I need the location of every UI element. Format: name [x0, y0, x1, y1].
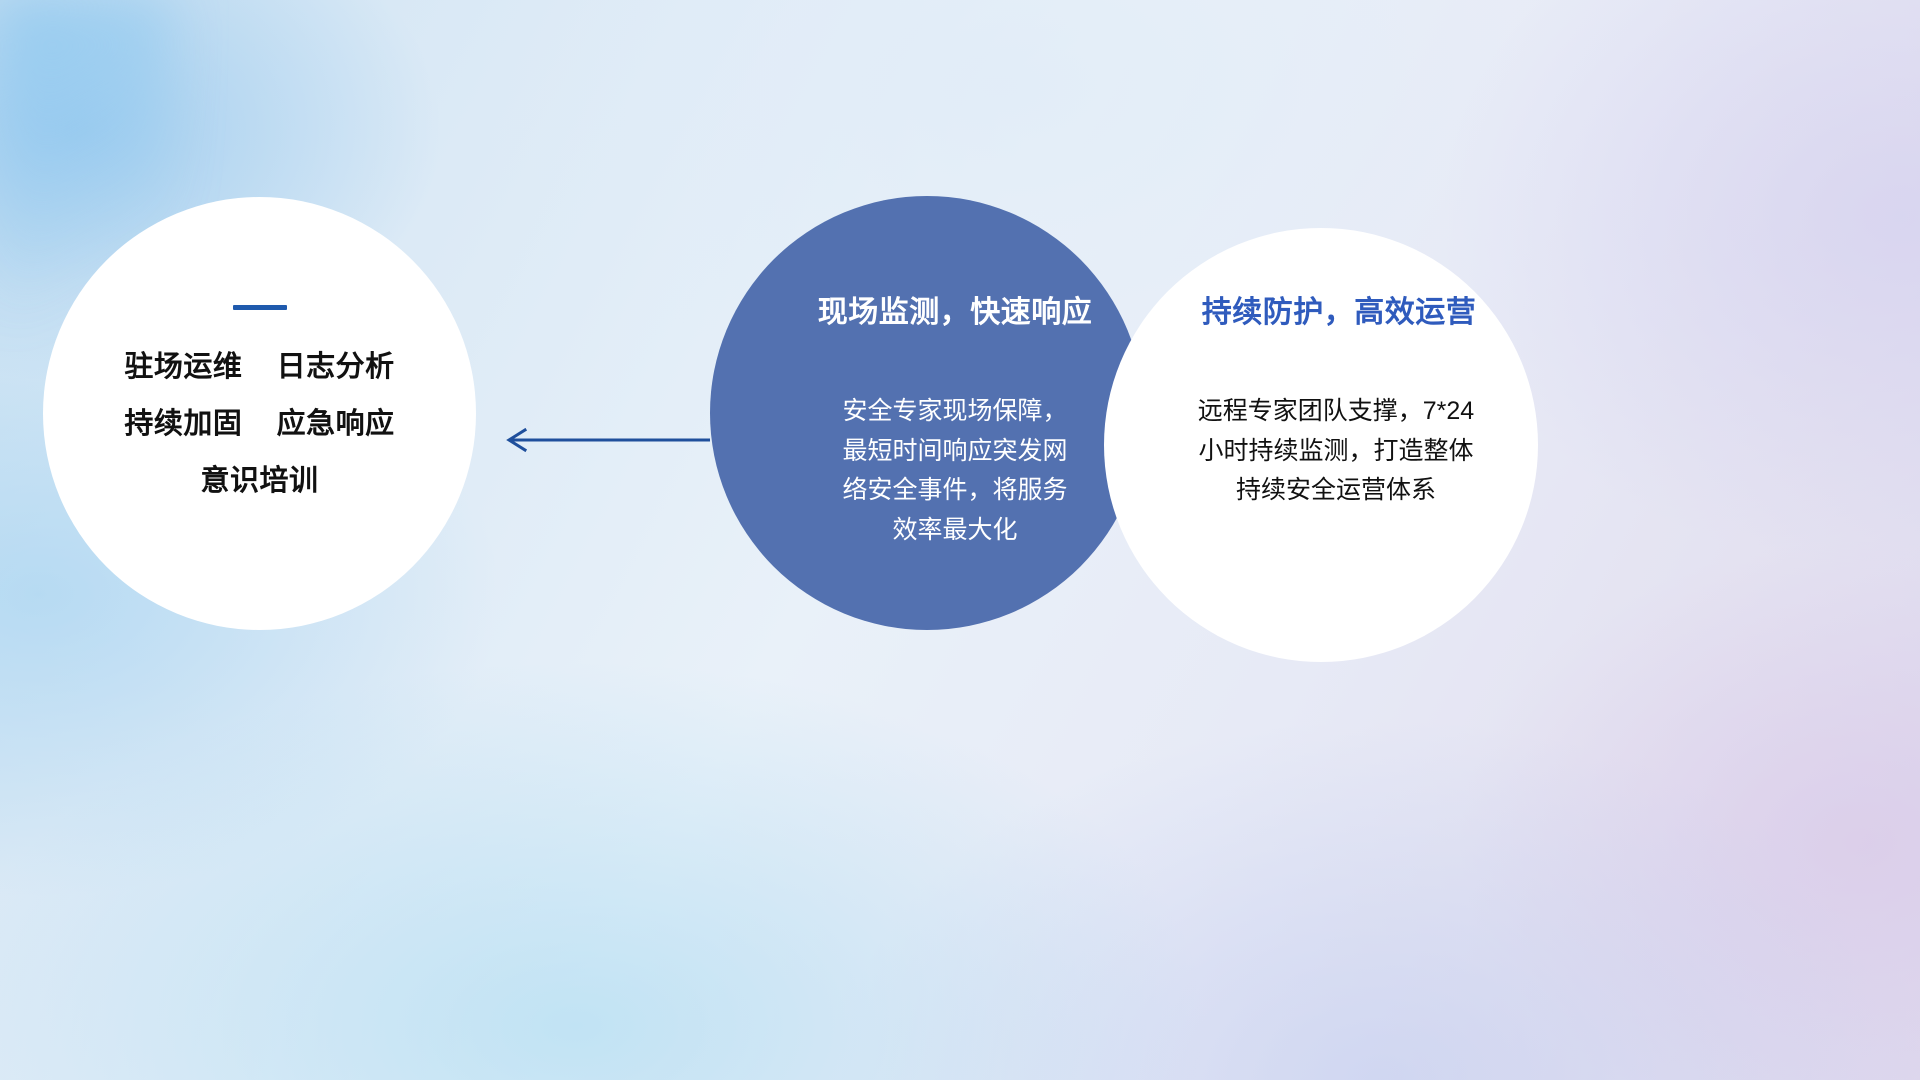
service-line: 驻场运维 日志分析 — [124, 353, 394, 382]
body-line: 络安全事件，将服务 — [815, 471, 1095, 511]
body-line: 小时持续监测，打造整体 — [1158, 432, 1514, 472]
onsite-monitoring-body: 安全专家现场保障， 最短时间响应突发网 络安全事件，将服务 效率最大化 — [815, 392, 1095, 550]
continuous-protection-body: 远程专家团队支撑，7*24 小时持续监测，打造整体 持续安全运营体系 — [1158, 392, 1514, 511]
body-line: 最短时间响应突发网 — [815, 432, 1095, 472]
body-line: 安全专家现场保障， — [815, 392, 1095, 432]
accent-dash-icon — [233, 305, 287, 310]
body-line: 效率最大化 — [815, 511, 1095, 551]
body-line: 持续安全运营体系 — [1158, 471, 1514, 511]
service-capability-content: 驻场运维 日志分析 持续加固 应急响应 意识培训 — [43, 197, 476, 630]
service-capability-circle: 驻场运维 日志分析 持续加固 应急响应 意识培训 — [43, 197, 476, 630]
left-pointing-arrow — [495, 424, 710, 456]
service-line: 意识培训 — [200, 467, 318, 496]
onsite-monitoring-title: 现场监测，快速响应 — [818, 296, 1093, 329]
continuous-protection-circle: 持续防护，高效运营 远程专家团队支撑，7*24 小时持续监测，打造整体 持续安全… — [1104, 228, 1538, 662]
body-line: 远程专家团队支撑，7*24 — [1158, 392, 1514, 432]
continuous-protection-title: 持续防护，高效运营 — [1202, 296, 1477, 329]
continuous-protection-content: 持续防护，高效运营 远程专家团队支撑，7*24 小时持续监测，打造整体 持续安全… — [1104, 228, 1538, 662]
onsite-monitoring-content: 现场监测，快速响应 安全专家现场保障， 最短时间响应突发网 络安全事件，将服务 … — [710, 196, 1144, 630]
onsite-monitoring-circle: 现场监测，快速响应 安全专家现场保障， 最短时间响应突发网 络安全事件，将服务 … — [710, 196, 1144, 630]
service-line: 持续加固 应急响应 — [124, 410, 394, 439]
